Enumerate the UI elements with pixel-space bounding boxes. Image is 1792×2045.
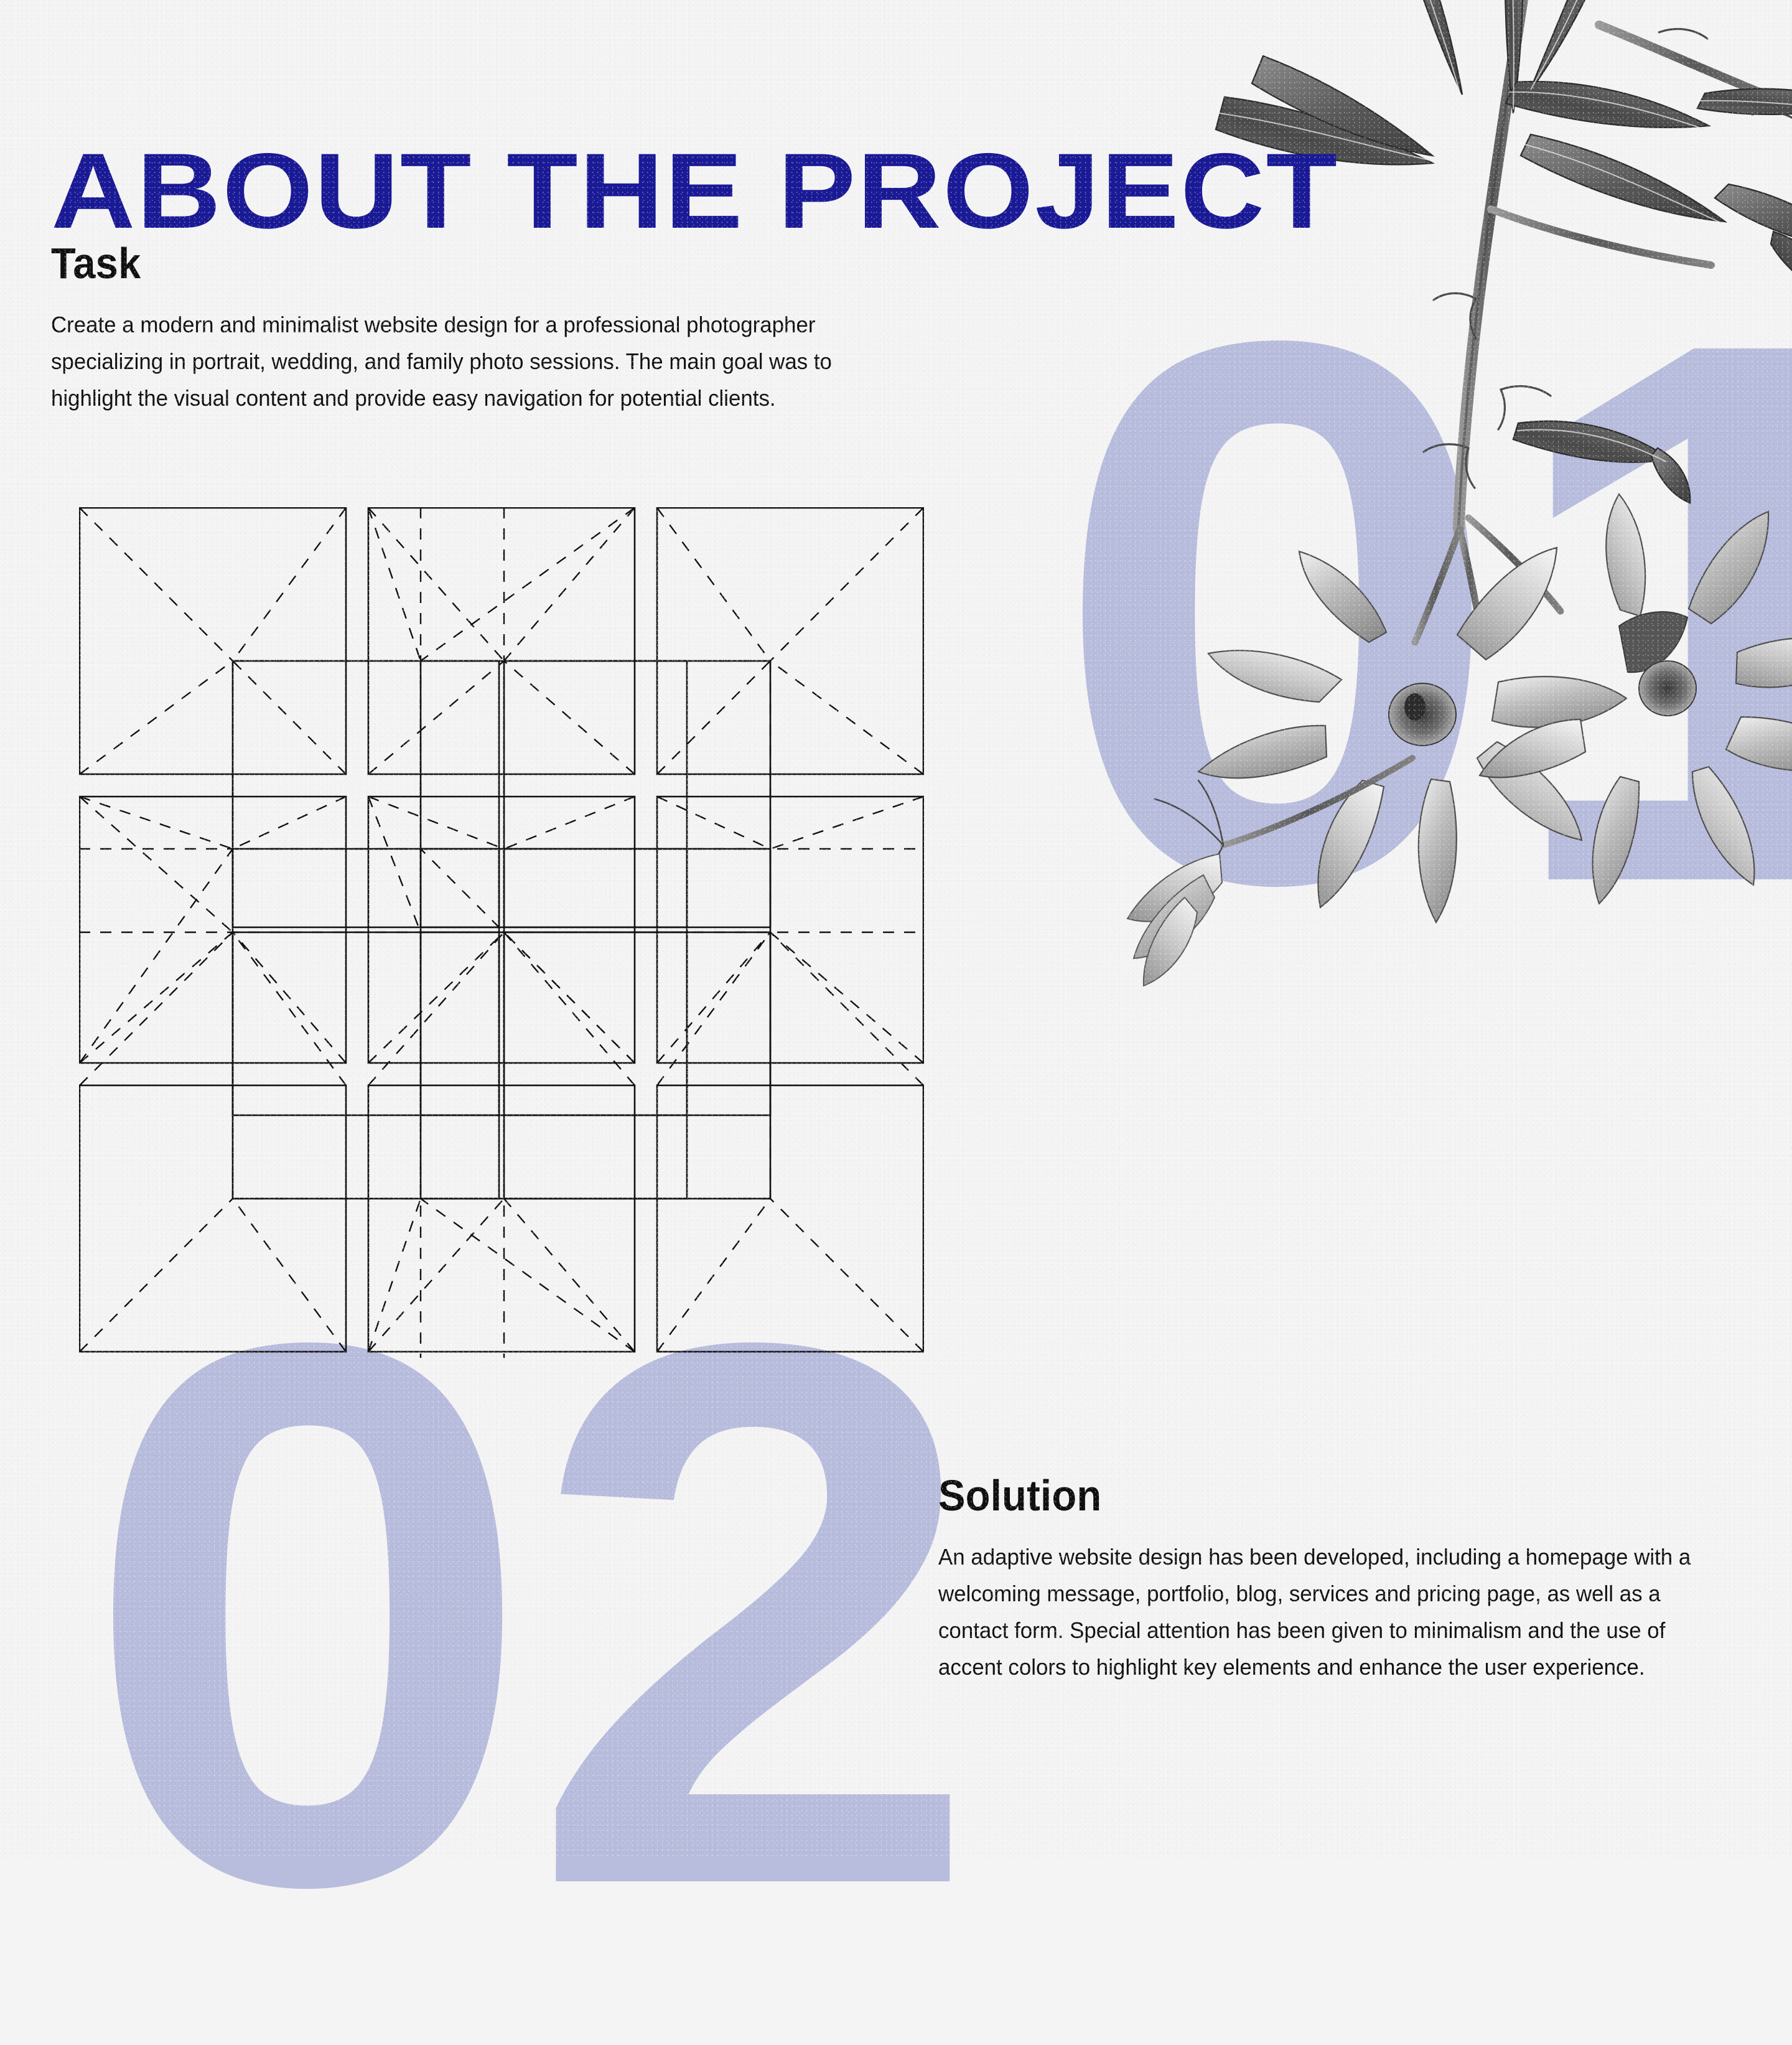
page-title: ABOUT THE PROJECT	[51, 138, 1338, 245]
task-body: Create a modern and minimalist website d…	[51, 306, 895, 416]
section-numeral-02: 02	[81, 1313, 974, 1915]
solution-body: An adaptive website design has been deve…	[938, 1538, 1711, 1686]
task-section: Task Create a modern and minimalist webs…	[51, 241, 935, 416]
solution-section: Solution An adaptive website design has …	[938, 1474, 1747, 1686]
solution-heading: Solution	[938, 1474, 1691, 1517]
geometric-grid-illustration	[79, 507, 924, 1358]
section-numeral-01: 01	[1050, 311, 1792, 913]
task-heading: Task	[51, 241, 873, 285]
